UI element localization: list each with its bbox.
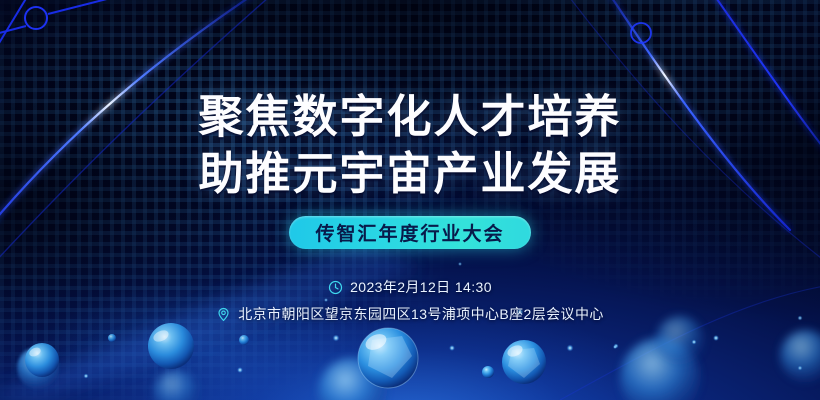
event-datetime-row: 2023年2月12日 14:30 <box>328 277 492 297</box>
clock-icon <box>328 280 343 295</box>
event-address-text: 北京市朝阳区望京东园四区13号浦项中心B座2层会议中心 <box>238 304 604 324</box>
title-line-1: 聚焦数字化人才培养 <box>198 88 621 145</box>
event-banner: 聚焦数字化人才培养 助推元宇宙产业发展 传智汇年度行业大会 2023年2月12日… <box>0 0 820 400</box>
page-title: 聚焦数字化人才培养 助推元宇宙产业发展 <box>198 88 621 202</box>
location-pin-icon <box>216 307 231 322</box>
event-address-row: 北京市朝阳区望京东园四区13号浦项中心B座2层会议中心 <box>216 304 604 324</box>
event-datetime-text: 2023年2月12日 14:30 <box>350 277 492 297</box>
conference-badge: 传智汇年度行业大会 <box>289 216 530 249</box>
event-details: 2023年2月12日 14:30 北京市朝阳区望京东园四区13号浦项中心B座2层… <box>216 277 604 324</box>
title-line-2: 助推元宇宙产业发展 <box>198 145 621 202</box>
